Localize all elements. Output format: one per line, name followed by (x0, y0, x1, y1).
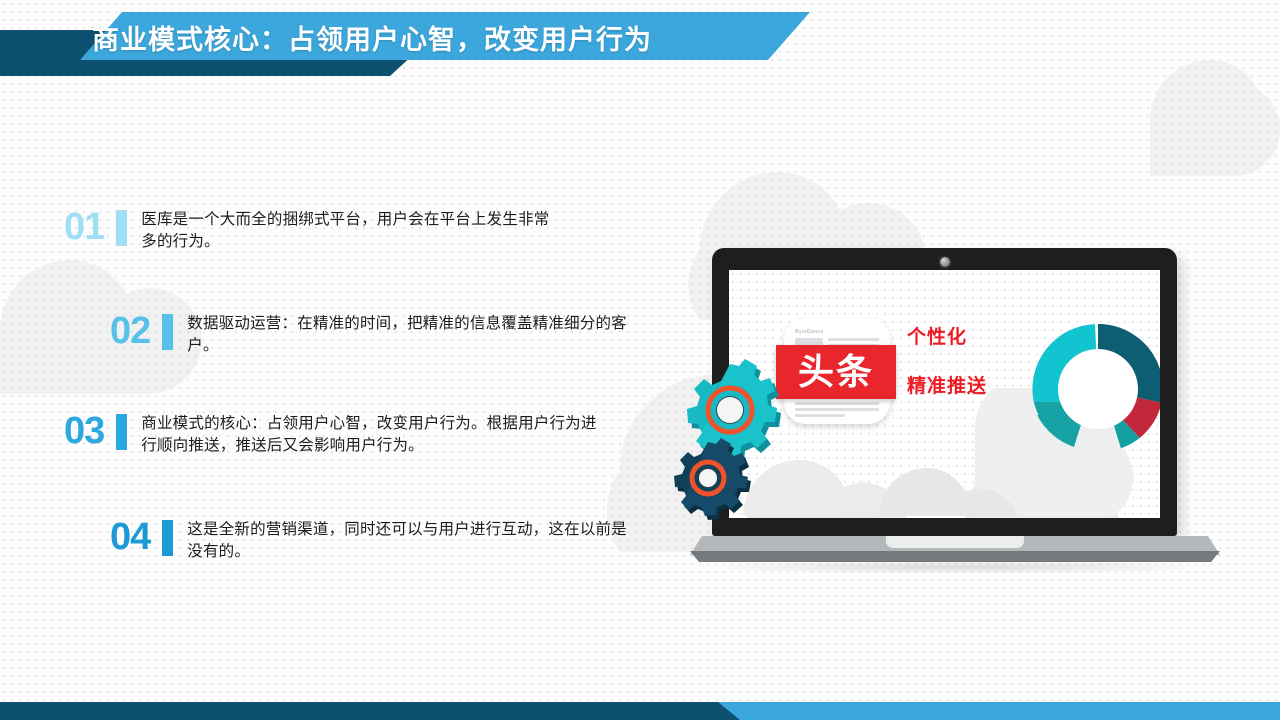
bullet-number: 01 (64, 208, 104, 246)
bullet-number: 04 (110, 518, 150, 556)
list-item: 02 数据驱动运营：在精准的时间，把精准的信息覆盖精准细分的客户。 (110, 312, 670, 357)
bullet-text: 数据驱动运营：在精准的时间，把精准的信息覆盖精准细分的客户。 (187, 312, 637, 357)
bullet-bar (116, 210, 127, 246)
donut-hole (1058, 349, 1138, 429)
slide-root: 商业模式核心：占领用户心智，改变用户行为 01 医库是一个大而全的捆绑式平台，用… (0, 0, 1280, 720)
bullet-bar (162, 520, 173, 556)
list-item: 04 这是全新的营销渠道，同时还可以与用户进行互动，这在以前是没有的。 (110, 518, 670, 563)
header-banner: 商业模式核心：占领用户心智，改变用户行为 (0, 0, 900, 95)
gears-illustration (668, 358, 818, 538)
bytedance-brand-label: ByteDance (795, 329, 824, 335)
list-item: 01 医库是一个大而全的捆绑式平台，用户会在平台上发生非常多的行为。 (64, 208, 564, 253)
laptop-base-notch (886, 536, 1024, 548)
page-title: 商业模式核心：占领用户心智，改变用户行为 (92, 14, 792, 60)
push-label-precise: 精准推送 (907, 377, 987, 398)
bullet-text: 这是全新的营销渠道，同时还可以与用户进行互动，这在以前是没有的。 (187, 518, 627, 563)
bullet-number: 03 (64, 412, 104, 450)
bullet-bar (116, 414, 127, 450)
webcam-icon (940, 257, 950, 267)
list-item: 03 商业模式的核心：占领用户心智，改变用户行为。根据用户行为进行顺向推送，推送… (64, 412, 654, 457)
footer-dark-shape (0, 702, 740, 720)
bullet-number: 02 (110, 312, 150, 350)
bullet-bar (162, 314, 173, 350)
gear-large-icon (687, 359, 781, 462)
push-labels: 个性化 精准推送 (907, 328, 987, 398)
footer-bar (0, 702, 1280, 720)
donut-chart (1027, 318, 1160, 460)
footer-light-shape (700, 702, 1280, 720)
bullet-text: 商业模式的核心：占领用户心智，改变用户行为。根据用户行为进行顺向推送，推送后又会… (141, 412, 607, 457)
push-label-personalized: 个性化 (907, 328, 987, 349)
laptop-shadow (698, 560, 1214, 574)
bullet-text: 医库是一个大而全的捆绑式平台，用户会在平台上发生非常多的行为。 (141, 208, 564, 253)
